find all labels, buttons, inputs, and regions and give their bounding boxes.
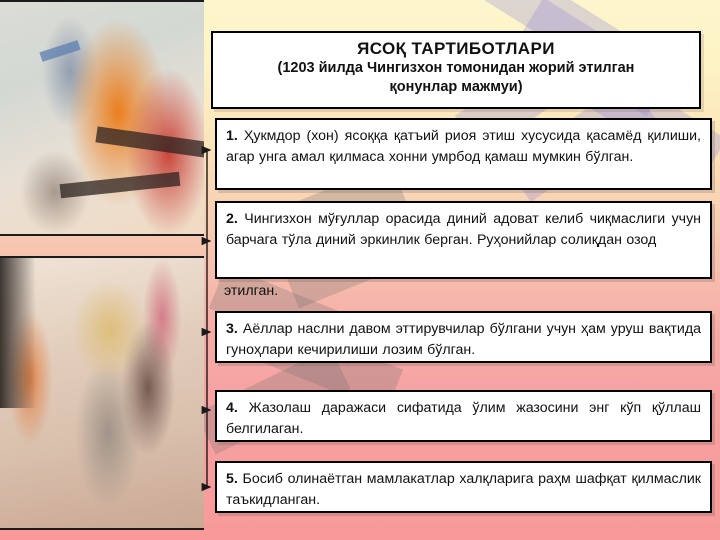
rule-body-1: Ҳукмдор (хон) ясоққа қатъий риоя этиш ху… (226, 128, 701, 165)
rule-2-overflow-text: этилган. (215, 281, 515, 302)
rule-number-5: 5. (226, 471, 238, 487)
page-title: ЯСОҚ ТАРТИБОТЛАРИ (221, 38, 691, 59)
rule-number-4: 4. (226, 400, 238, 416)
slide-title-card: ЯСОҚ ТАРТИБОТЛАРИ (1203 йилда Чингизхон … (211, 31, 701, 109)
rule-card-1: 1. Ҳукмдор (хон) ясоққа қатъий риоя этиш… (215, 118, 712, 190)
rule-body-4: Жазолаш даражаси сифатида ўлим жазосини … (226, 400, 701, 437)
rule-card-3: 3. Аёллар наслни давом эттирувчилар бўлг… (215, 311, 712, 363)
rule-body-5: Босиб олинаётган мамлакатлар халқларига … (226, 471, 701, 508)
rule-text-4: 4. Жазолаш даражаси сифатида ўлим жазоси… (226, 398, 701, 440)
rule-text-3: 3. Аёллар наслни давом эттирувчилар бўлг… (226, 319, 701, 361)
rule-body-3: Аёллар наслни давом эттирувчилар бўлгани… (226, 321, 701, 358)
page-subtitle-line-2: қонунлар мажмуи) (221, 78, 691, 97)
rule-body-2: Чингизхон мўғуллар орасида диний адоват … (226, 211, 701, 248)
mongol-khan-warrior-photo (0, 256, 204, 530)
rule-number-2: 2. (226, 211, 238, 227)
photo-shadow (0, 258, 36, 408)
rule-text-1: 1. Ҳукмдор (хон) ясоққа қатъий риоя этиш… (226, 126, 701, 168)
rule-card-5: 5. Босиб олинаётган мамлакатлар халқлари… (215, 461, 712, 513)
rule-number-3: 3. (226, 321, 238, 337)
page-subtitle-line-1: (1203 йилда Чингизхон томонидан жорий эт… (221, 59, 691, 78)
rule-text-2: 2. Чингизхон мўғуллар орасида диний адов… (226, 209, 701, 251)
rule-card-2: 2. Чингизхон мўғуллар орасида диний адов… (215, 201, 712, 279)
rule-number-1: 1. (226, 128, 238, 144)
rule-card-4: 4. Жазолаш даражаси сифатида ўлим жазоси… (215, 390, 712, 442)
rule-text-5: 5. Босиб олинаётган мамлакатлар халқлари… (226, 469, 701, 511)
mongol-banners-photo (0, 0, 204, 236)
